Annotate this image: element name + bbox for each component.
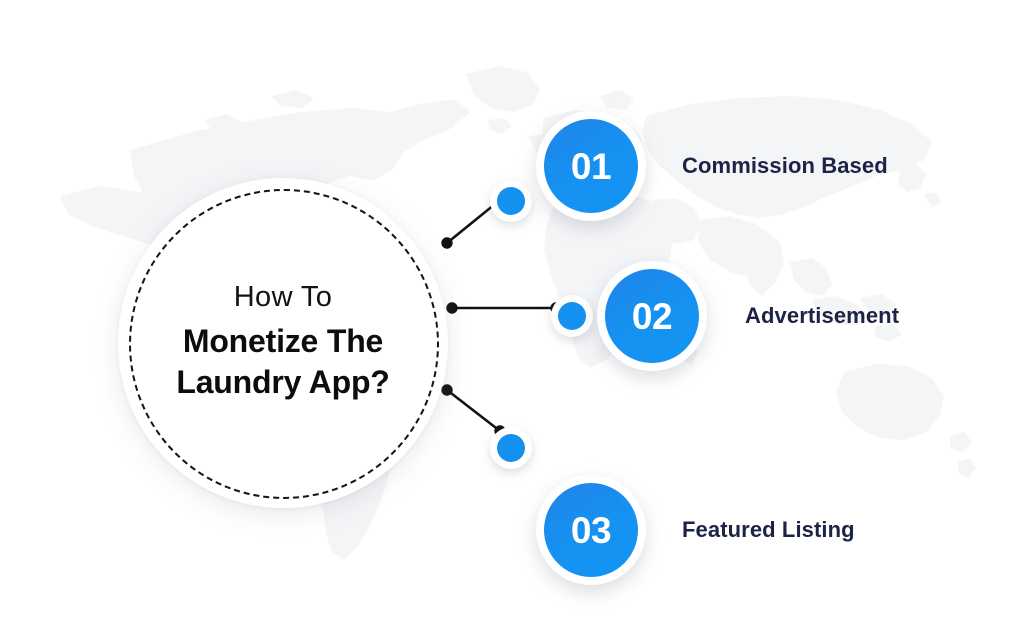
item-label-3: Featured Listing xyxy=(682,517,855,543)
item-row-2[interactable]: 02 Advertisement xyxy=(551,261,899,371)
number-badge-fill-2: 02 xyxy=(605,269,699,363)
number-badge-text-1: 01 xyxy=(571,148,611,185)
connector-endpoint-hub-2 xyxy=(448,304,457,313)
node-dot-3 xyxy=(490,427,532,469)
central-hub-circle: How To Monetize The Laundry App? xyxy=(118,178,448,508)
number-badge-text-2: 02 xyxy=(632,298,672,335)
number-badge-text-3: 03 xyxy=(571,512,611,549)
node-dot-2 xyxy=(551,295,593,337)
number-badge-fill-1: 01 xyxy=(544,119,638,213)
infographic-canvas: How To Monetize The Laundry App? 01 Comm… xyxy=(0,0,1024,632)
number-badge-1[interactable]: 01 xyxy=(536,111,646,221)
number-badge-3[interactable]: 03 xyxy=(536,475,646,585)
hub-title-line-2: Monetize The xyxy=(183,321,383,362)
item-row-3[interactable]: 03 Featured Listing xyxy=(490,427,855,585)
connector-line-3 xyxy=(447,390,500,431)
hub-title-line-1: How To xyxy=(234,283,333,312)
node-dot-1 xyxy=(490,180,532,222)
item-row-1[interactable]: 01 Commission Based xyxy=(490,110,888,222)
number-badge-fill-3: 03 xyxy=(544,483,638,577)
hub-title-line-3: Laundry App? xyxy=(176,362,389,403)
number-badge-2[interactable]: 02 xyxy=(597,261,707,371)
item-label-1: Commission Based xyxy=(682,153,888,179)
item-label-2: Advertisement xyxy=(745,303,899,329)
hub-title-block: How To Monetize The Laundry App? xyxy=(118,178,448,508)
